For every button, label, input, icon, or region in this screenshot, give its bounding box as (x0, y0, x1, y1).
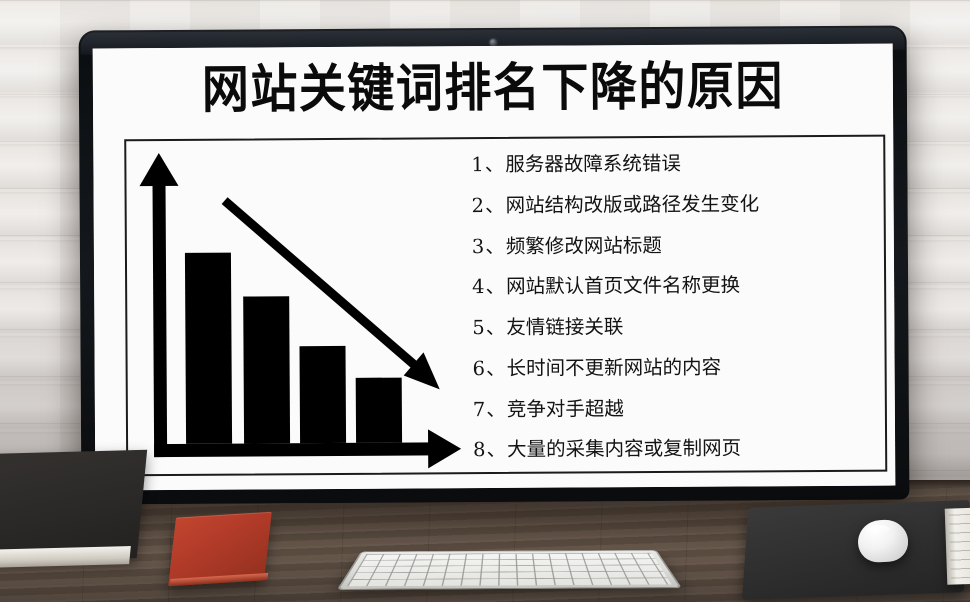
declining-bar-chart (126, 139, 488, 478)
mouse-icon (857, 519, 909, 564)
list-item-number: 3 (472, 237, 485, 257)
webcam-dot-icon (489, 39, 496, 46)
list-item-number: 6 (473, 359, 486, 379)
list-item: 8 、 大量的采集内容或复制网页 (473, 438, 873, 460)
list-item: 6 、 长时间不更新网站的内容 (473, 357, 873, 379)
list-item: 5 、 友情链接关联 (472, 316, 872, 338)
list-item-separator: 、 (485, 236, 505, 256)
list-item: 1 、 服务器故障系统错误 (471, 153, 871, 175)
mousepad (742, 500, 970, 600)
list-item-separator: 、 (486, 440, 506, 460)
list-item: 4 、 网站默认首页文件名称更换 (472, 275, 872, 297)
list-item-separator: 、 (485, 277, 505, 297)
list-item-number: 8 (473, 441, 486, 461)
list-item-separator: 、 (485, 155, 505, 175)
slide-content-frame: 1 、 服务器故障系统错误 2 、 网站结构改版或路径发生变化 3 、 (124, 135, 887, 477)
page-title: 网站关键词排名下降的原因 (93, 59, 893, 118)
list-item-label: 服务器故障系统错误 (505, 154, 681, 175)
keyboard-keys (347, 553, 672, 586)
list-item-label: 友情链接关联 (506, 317, 623, 337)
list-item: 7 、 竞争对手超越 (473, 397, 873, 419)
notepad (945, 507, 970, 584)
bar-4 (356, 378, 402, 443)
list-item-label: 频繁修改网站标题 (506, 236, 662, 256)
list-item-separator: 、 (486, 359, 506, 379)
y-axis-arrow-icon (139, 153, 180, 457)
list-item-separator: 、 (485, 196, 505, 216)
list-item-label: 网站默认首页文件名称更换 (506, 276, 740, 297)
list-item: 2 、 网站结构改版或路径发生变化 (472, 193, 872, 215)
list-item-separator: 、 (486, 400, 506, 420)
reasons-list: 1 、 服务器故障系统错误 2 、 网站结构改版或路径发生变化 3 、 (471, 153, 873, 460)
list-item-separator: 、 (486, 318, 506, 338)
list-item-number: 1 (471, 155, 484, 175)
desk-scene-photo: 网站关键词排名下降的原因 (0, 0, 970, 602)
list-item-label: 大量的采集内容或复制网页 (507, 439, 741, 460)
chart-bars (185, 252, 402, 444)
keyboard-icon (339, 551, 679, 589)
list-item-label: 长时间不更新网站的内容 (507, 358, 722, 379)
bar-3 (299, 346, 346, 443)
bar-1 (185, 253, 232, 444)
keyboard-body (339, 551, 679, 589)
presentation-slide: 网站关键词排名下降的原因 (93, 44, 896, 491)
list-item-number: 5 (472, 318, 485, 338)
list-item: 3 、 频繁修改网站标题 (472, 234, 872, 256)
list-item-number: 7 (473, 400, 486, 420)
list-item-label: 网站结构改版或路径发生变化 (506, 194, 760, 215)
list-item-number: 4 (472, 277, 485, 297)
computer-monitor: 网站关键词排名下降的原因 (79, 25, 910, 504)
list-item-number: 2 (472, 196, 485, 216)
monitor-screen: 网站关键词排名下降的原因 (93, 44, 896, 491)
list-item-label: 竞争对手超越 (507, 399, 624, 419)
bar-2 (243, 296, 290, 443)
